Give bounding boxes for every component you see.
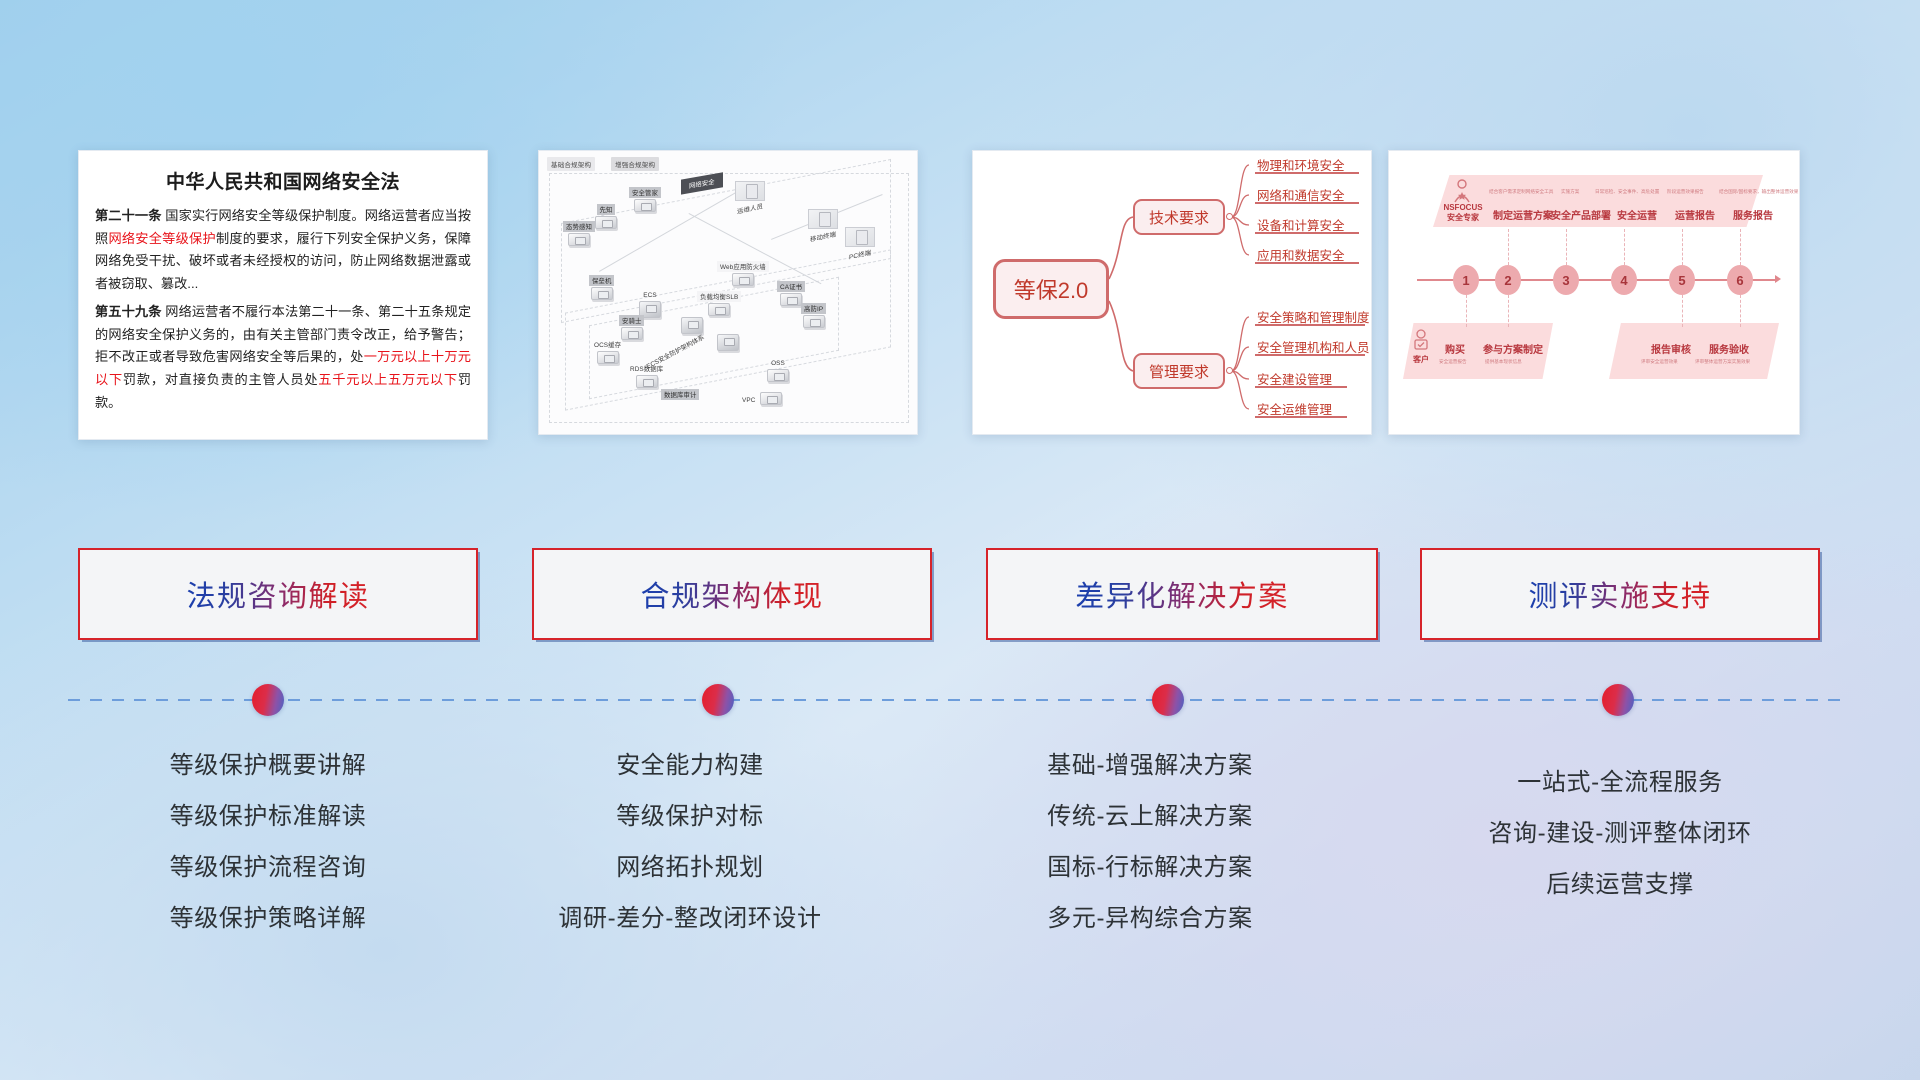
bottom-lists-row: 等级保护概要讲解 等级保护标准解读 等级保护流程咨询 等级保护策略详解 安全能力… bbox=[0, 740, 1920, 1040]
node-xianzhi: 先知 bbox=[595, 204, 617, 229]
cube-icon bbox=[636, 375, 658, 388]
bottom-step-label: 参与方案制定 bbox=[1483, 341, 1543, 356]
node-anqishi: 安骑士 bbox=[619, 315, 644, 340]
list-item: 调研-差分-整改闭环设计 bbox=[490, 893, 890, 944]
timeline-marker-dot-3[interactable] bbox=[1152, 684, 1184, 716]
timeline-node[interactable]: 5 bbox=[1669, 265, 1695, 295]
timeline-dash bbox=[1508, 295, 1509, 327]
card-mindmap: 等保2.0 技术要求 管理要求 物理和环境安全 网络和通信安全 设备和计算安全 … bbox=[972, 150, 1372, 435]
mindmap-collapse-dot-technical[interactable] bbox=[1226, 213, 1233, 220]
customer-person-icon bbox=[1411, 329, 1431, 353]
node-mobile-terminal: 移动终端 bbox=[807, 209, 839, 242]
law-article-21: 第二十一条 国家实行网络安全等级保护制度。网络运营者应当按照网络安全等级保护制度… bbox=[95, 205, 471, 296]
mindmap-leaf-underline bbox=[1255, 386, 1347, 388]
cube-icon bbox=[803, 315, 825, 328]
node-ops-personnel: 运维人员 bbox=[734, 181, 766, 214]
mindmap-leaf-underline bbox=[1255, 324, 1365, 326]
node-database-audit: 数据库审计 bbox=[661, 389, 699, 400]
node-server-a bbox=[681, 316, 703, 334]
timeline-dash bbox=[1740, 295, 1741, 327]
title-box-assessment-support[interactable]: 测评实施支持 bbox=[1420, 548, 1820, 640]
node-ecs: ECS bbox=[639, 291, 661, 318]
node-bastion-host: 保垒机 bbox=[589, 275, 614, 300]
top-step-caption: 结合客户需求定制网络安全工具 bbox=[1489, 189, 1553, 195]
brand-nsfocus: NSFOCUS 安全专家 bbox=[1441, 203, 1485, 223]
timeline-dash bbox=[1624, 229, 1625, 265]
mindmap-leaf-underline bbox=[1255, 416, 1347, 418]
timeline-dash bbox=[1740, 229, 1741, 265]
card-service-timeline: NSFOCUS 安全专家 制定运营方案 结合客户需求定制网络安全工具 安全产品部… bbox=[1388, 150, 1800, 435]
cube-icon bbox=[597, 351, 619, 364]
law-article-59: 第五十九条 网络运营者不履行本法第二十一条、第二十五条规定的网络安全保护义务的，… bbox=[95, 301, 471, 415]
list-column-assessment: 一站式-全流程服务 咨询-建设-测评整体闭环 后续运营支撑 bbox=[1400, 757, 1840, 910]
title-label: 法规咨询解读 bbox=[186, 573, 369, 615]
cube-icon bbox=[732, 273, 754, 286]
timeline-dash bbox=[1682, 229, 1683, 265]
mindmap-leaf-underline bbox=[1255, 262, 1359, 264]
node-situational-awareness: 态势感知 bbox=[563, 221, 595, 246]
title-box-differentiated-solution[interactable]: 差异化解决方案 bbox=[986, 548, 1378, 640]
timeline-marker-dot-2[interactable] bbox=[702, 684, 734, 716]
card-law-text: 中华人民共和国网络安全法 第二十一条 国家实行网络安全等级保护制度。网络运营者应… bbox=[78, 150, 488, 440]
timeline-node[interactable]: 1 bbox=[1453, 265, 1479, 295]
list-item: 咨询-建设-测评整体闭环 bbox=[1400, 808, 1840, 859]
article-21-label: 第二十一条 bbox=[95, 208, 162, 223]
cube-icon bbox=[760, 392, 782, 405]
list-column-regulation: 等级保护概要讲解 等级保护标准解读 等级保护流程咨询 等级保护策略详解 bbox=[78, 740, 458, 944]
node-server-b bbox=[717, 333, 739, 351]
cards-row: 中华人民共和国网络安全法 第二十一条 国家实行网络安全等级保护制度。网络运营者应… bbox=[0, 150, 1920, 450]
cube-icon bbox=[767, 369, 789, 382]
mindmap-leaf-underline bbox=[1255, 172, 1359, 174]
slide-canvas: 中华人民共和国网络安全法 第二十一条 国家实行网络安全等级保护制度。网络运营者应… bbox=[0, 0, 1920, 1080]
title-box-compliance-architecture[interactable]: 合规架构体现 bbox=[532, 548, 932, 640]
node-oss: OSS bbox=[767, 359, 789, 382]
list-item: 传统-云上解决方案 bbox=[950, 791, 1350, 842]
device-platform-icon bbox=[845, 227, 875, 247]
timeline-dash bbox=[1682, 295, 1683, 327]
timeline-dash bbox=[1566, 229, 1567, 265]
node-waf: Web应用防火墙 bbox=[717, 261, 769, 286]
title-boxes-row: 法规咨询解读 合规架构体现 差异化解决方案 测评实施支持 bbox=[0, 548, 1920, 648]
mindmap-leaf-underline bbox=[1255, 202, 1359, 204]
person-platform-icon bbox=[735, 181, 765, 201]
list-item: 等级保护流程咨询 bbox=[78, 842, 458, 893]
title-box-regulation-consulting[interactable]: 法规咨询解读 bbox=[78, 548, 478, 640]
title-label: 测评实施支持 bbox=[1528, 573, 1711, 615]
list-item: 后续运营支撑 bbox=[1400, 859, 1840, 910]
mindmap-collapse-dot-management[interactable] bbox=[1226, 367, 1233, 374]
timeline-dash bbox=[1466, 295, 1467, 327]
top-step-caption: 结合国际/国标要求，输出整体运营效果 bbox=[1719, 189, 1798, 195]
list-item: 等级保护策略详解 bbox=[78, 893, 458, 944]
article-59-text-b: 罚款，对直接负责的主管人员处 bbox=[123, 372, 318, 387]
top-step-label: 服务报告 bbox=[1733, 207, 1773, 222]
cube-icon bbox=[634, 199, 656, 212]
tab-basic-architecture[interactable]: 基础合规架构 bbox=[547, 157, 595, 171]
cube-icon bbox=[595, 216, 617, 229]
top-step-caption: 阶段运营效果报告 bbox=[1667, 189, 1704, 195]
timeline-bottom-right-band bbox=[1609, 323, 1779, 379]
title-label: 合规架构体现 bbox=[640, 573, 823, 615]
mindmap-canvas: 等保2.0 技术要求 管理要求 物理和环境安全 网络和通信安全 设备和计算安全 … bbox=[973, 151, 1371, 434]
cube-icon bbox=[681, 317, 703, 334]
timeline-marker-dot-4[interactable] bbox=[1602, 684, 1634, 716]
node-vpc: VPC bbox=[739, 391, 782, 405]
cube-icon bbox=[717, 334, 739, 351]
main-timeline-dashed-line bbox=[68, 699, 1850, 701]
node-anti-ddos-ip: 高防IP bbox=[801, 303, 826, 328]
timeline-canvas: NSFOCUS 安全专家 制定运营方案 结合客户需求定制网络安全工具 安全产品部… bbox=[1389, 151, 1799, 434]
list-item: 国标-行标解决方案 bbox=[950, 842, 1350, 893]
bottom-step-label: 报告审核 bbox=[1651, 341, 1691, 356]
architecture-canvas: 基础合规架构 增强合规架构 态势感知 先知 安全管家 网络安全 bbox=[539, 151, 917, 434]
cube-icon bbox=[708, 303, 730, 316]
node-security-butler: 安全管家 bbox=[629, 187, 661, 212]
timeline-dash bbox=[1508, 229, 1509, 265]
top-step-label: 制定运营方案 bbox=[1493, 207, 1553, 222]
top-step-label: 运营报告 bbox=[1675, 207, 1715, 222]
cube-icon bbox=[780, 293, 802, 306]
timeline-node[interactable]: 6 bbox=[1727, 265, 1753, 295]
law-title: 中华人民共和国网络安全法 bbox=[95, 167, 471, 194]
list-item: 一站式-全流程服务 bbox=[1400, 757, 1840, 808]
list-item: 安全能力构建 bbox=[490, 740, 890, 791]
bottom-step-caption: 评审整体运营方案实施效果 bbox=[1695, 359, 1750, 365]
timeline-marker-dot-1[interactable] bbox=[252, 684, 284, 716]
list-item: 等级保护标准解读 bbox=[78, 791, 458, 842]
list-column-architecture: 安全能力构建 等级保护对标 网络拓扑规划 调研-差分-整改闭环设计 bbox=[490, 740, 890, 944]
bottom-step-caption: 安全运营报告 bbox=[1439, 359, 1467, 365]
label-customer: 客户 bbox=[1409, 355, 1433, 365]
top-step-caption: 实施方案 bbox=[1561, 189, 1579, 195]
article-59-highlight-2: 五千元以上五万元以下 bbox=[318, 372, 458, 387]
tab-enhanced-architecture[interactable]: 增强合规架构 bbox=[611, 157, 659, 171]
node-slb: 负载均衡SLB bbox=[697, 291, 741, 316]
node-pc-terminal: PC终端 bbox=[845, 227, 875, 260]
list-column-solution: 基础-增强解决方案 传统-云上解决方案 国标-行标解决方案 多元-异构综合方案 bbox=[950, 740, 1350, 944]
bottom-step-label: 购买 bbox=[1445, 341, 1465, 356]
timeline-node[interactable]: 4 bbox=[1611, 265, 1637, 295]
bottom-step-caption: 提供基本现状信息 bbox=[1485, 359, 1522, 365]
list-item: 等级保护概要讲解 bbox=[78, 740, 458, 791]
top-step-caption: 日常巡检、安全事件、高危处置 bbox=[1595, 189, 1659, 195]
list-item: 基础-增强解决方案 bbox=[950, 740, 1350, 791]
timeline-node[interactable]: 2 bbox=[1495, 265, 1521, 295]
top-step-label: 安全产品部署 bbox=[1551, 207, 1611, 222]
card-architecture-diagram: 基础合规架构 增强合规架构 态势感知 先知 安全管家 网络安全 bbox=[538, 150, 918, 435]
bottom-step-label: 服务验收 bbox=[1709, 341, 1749, 356]
expert-person-icon bbox=[1451, 179, 1473, 203]
mindmap-leaf-underline bbox=[1255, 232, 1359, 234]
list-item: 网络拓扑规划 bbox=[490, 842, 890, 893]
title-label: 差异化解决方案 bbox=[1075, 573, 1289, 615]
timeline-node[interactable]: 3 bbox=[1553, 265, 1579, 295]
cube-icon bbox=[568, 233, 590, 246]
article-21-highlight: 网络安全等级保护 bbox=[108, 231, 216, 246]
mindmap-leaf-underline bbox=[1255, 354, 1365, 356]
timeline-arrow-icon bbox=[1775, 275, 1781, 283]
list-item: 等级保护对标 bbox=[490, 791, 890, 842]
top-step-label: 安全运营 bbox=[1617, 207, 1657, 222]
article-59-label: 第五十九条 bbox=[95, 304, 162, 319]
cube-icon bbox=[591, 287, 613, 300]
node-ocs-cache: OCS缓存 bbox=[591, 339, 624, 364]
device-platform-icon bbox=[808, 209, 838, 229]
bottom-step-caption: 评审安全运营效果 bbox=[1641, 359, 1678, 365]
list-item: 多元-异构综合方案 bbox=[950, 893, 1350, 944]
